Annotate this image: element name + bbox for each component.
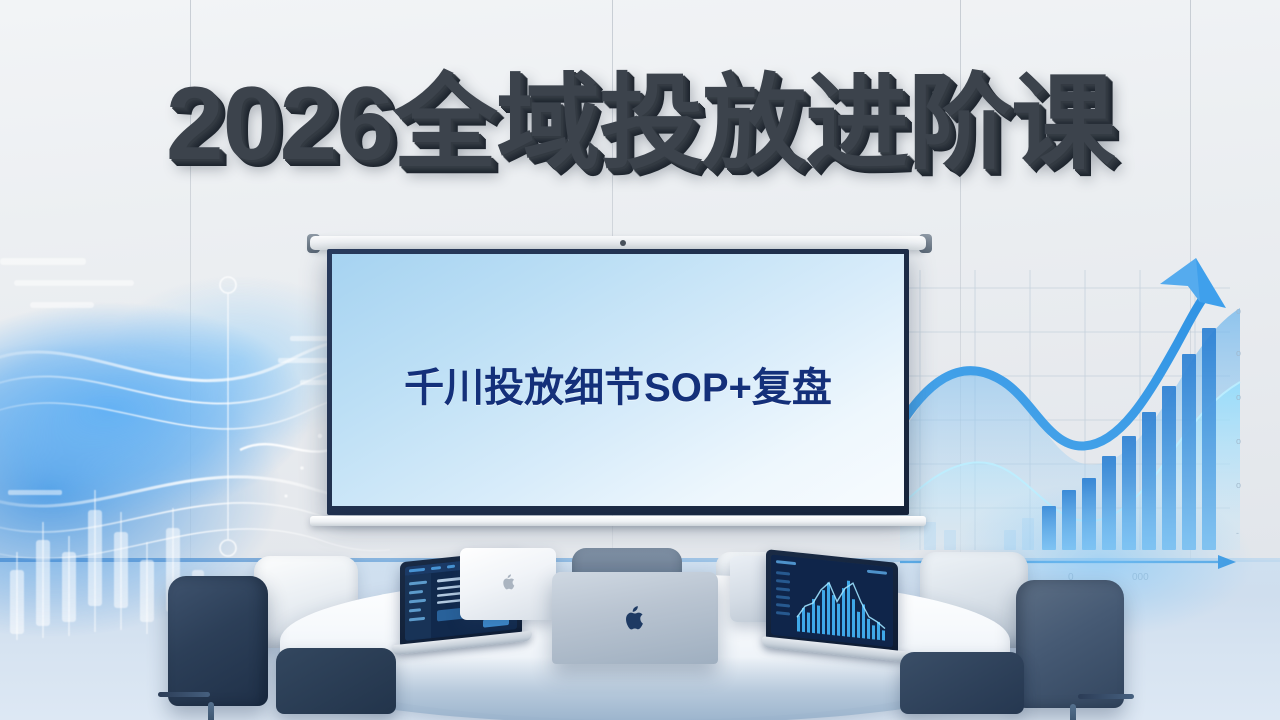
projector-bottom-bar: [310, 516, 926, 526]
screen-headline: 千川投放细节SOP+复盘: [332, 355, 904, 413]
projector-roller-dot: [620, 240, 626, 246]
laptop-right-chart: [762, 556, 910, 672]
svg-text:o: o: [1236, 392, 1241, 402]
chair-far-left: [162, 576, 274, 720]
projector-roller: [310, 236, 926, 250]
svg-text:o: o: [1236, 306, 1241, 316]
chair-right-front: [900, 652, 1024, 720]
laptop-center-apple: [552, 572, 718, 674]
apple-logo-icon: [502, 574, 515, 590]
chair-far-right: [1010, 580, 1130, 720]
svg-text:o: o: [1236, 348, 1241, 358]
chair-left-front: [276, 648, 396, 720]
page-title: 2026全域投放进阶课: [0, 72, 1280, 176]
laptop-left-closed: [460, 548, 556, 624]
poster-canvas: o o o o o - 00 0 000 2026全域投放进阶课 千川投放细节S…: [0, 0, 1280, 720]
apple-logo-icon: [624, 606, 644, 630]
